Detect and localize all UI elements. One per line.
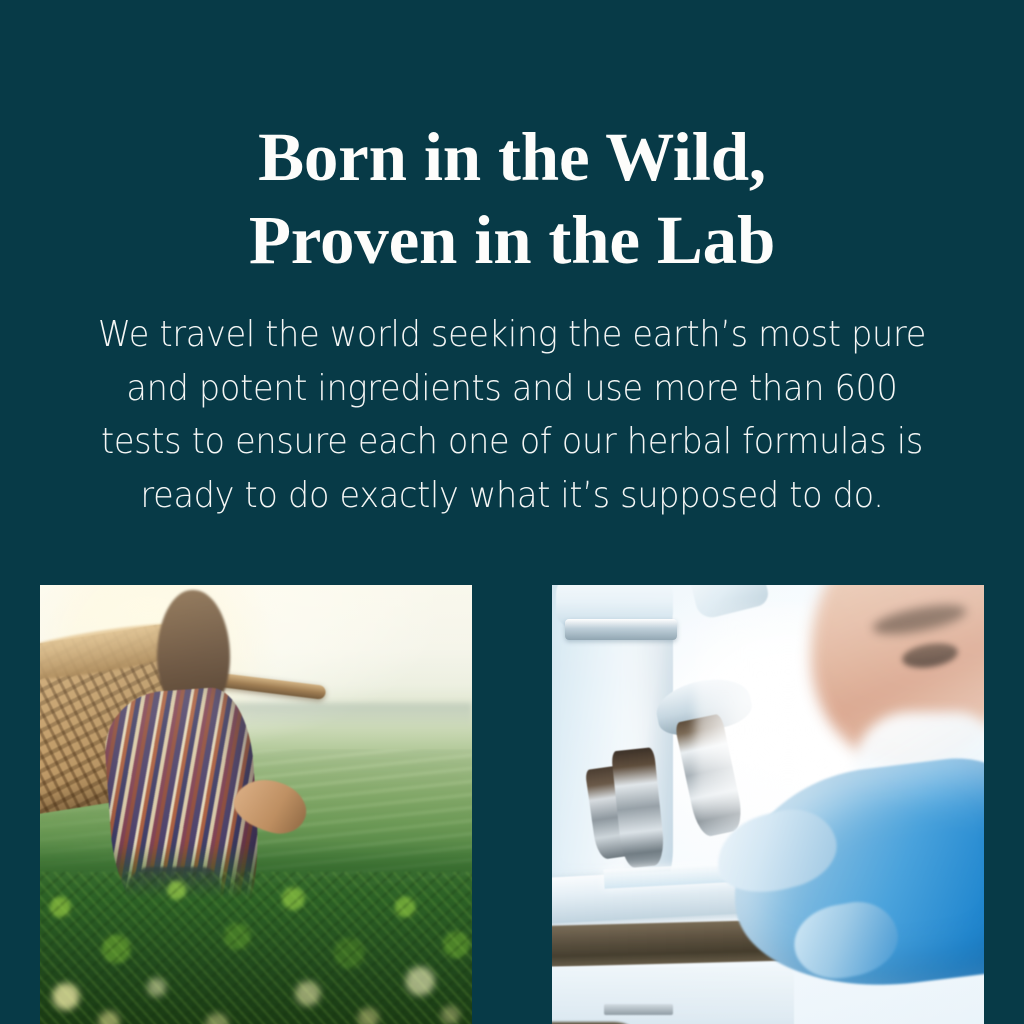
- microscope-eyepiece: [683, 585, 772, 620]
- bokeh-highlights: [40, 885, 472, 1024]
- laboratory-microscope-photo: [552, 585, 984, 1024]
- photo-strip: [0, 569, 1024, 1024]
- page-headline: Born in the Wild, Proven in the Lab: [0, 116, 1024, 282]
- objective-lens-c: [674, 713, 745, 839]
- lab-tool: [604, 1004, 673, 1016]
- promotional-poster: Born in the Wild, Proven in the Lab We t…: [0, 0, 1024, 1024]
- microscope-base: [552, 967, 794, 1024]
- tea-harvest-photo: [40, 585, 472, 1024]
- body-copy: We travel the world seeking the earth’s …: [94, 308, 931, 522]
- microscope-collar: [565, 619, 677, 640]
- brand-message-panel: Born in the Wild, Proven in the Lab We t…: [0, 0, 1024, 569]
